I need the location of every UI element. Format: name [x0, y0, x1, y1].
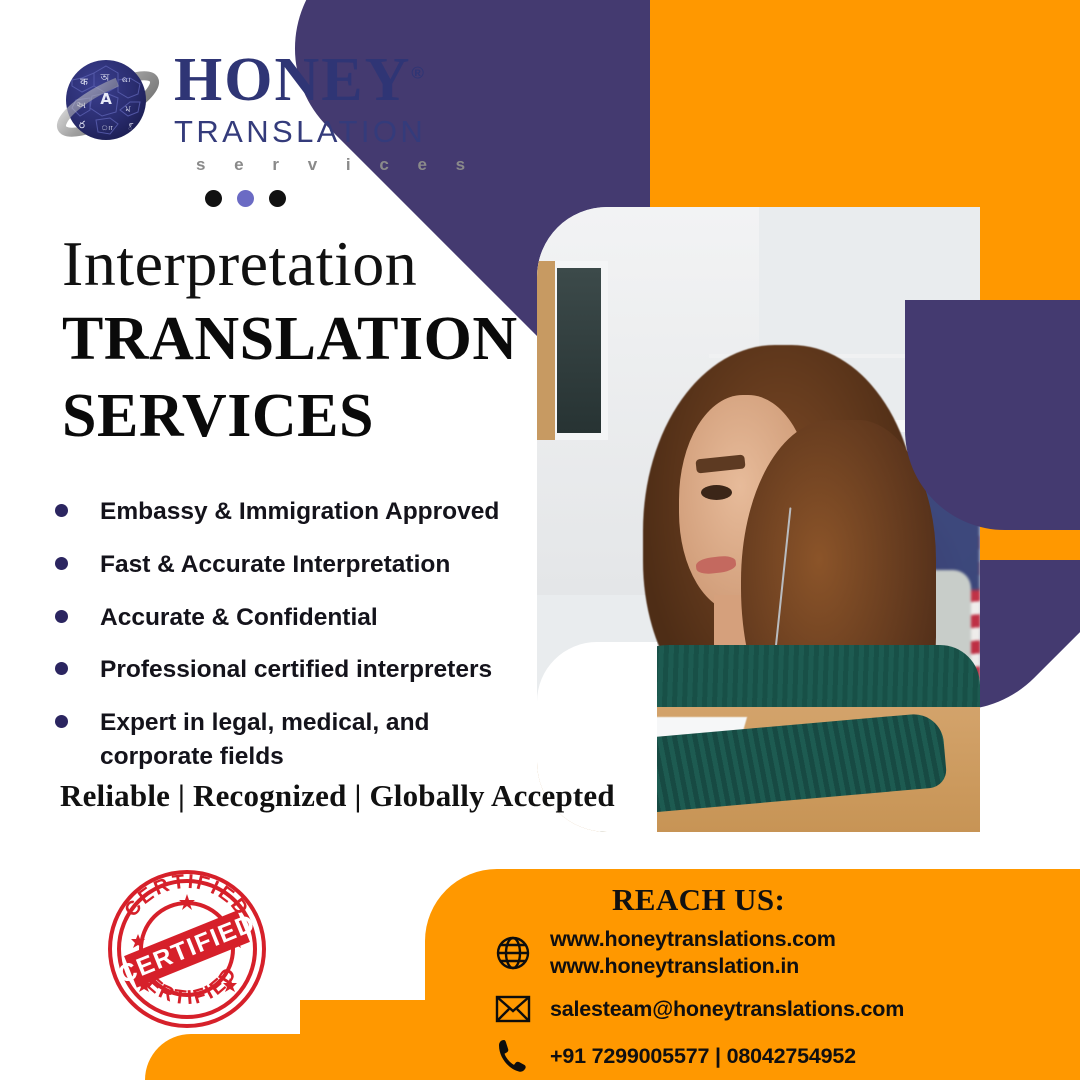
page-title: Interpretation TRANSLATION SERVICES	[62, 232, 518, 450]
contact-row-email[interactable]: salesteam@honeytranslations.com	[492, 994, 1052, 1024]
feature-text: Expert in legal, medical, and corporate …	[100, 706, 450, 774]
dot-black-left	[205, 190, 222, 207]
envelope-icon	[492, 994, 534, 1024]
headline-script-line: Interpretation	[62, 232, 518, 296]
globe-languages-icon: A क অ வ અ ర ா ম ్	[52, 46, 164, 158]
registered-mark-icon: ®	[411, 63, 426, 82]
bullet-dot-icon	[55, 504, 68, 517]
photo-eye	[701, 485, 732, 500]
email-text: salesteam@honeytranslations.com	[550, 996, 904, 1023]
poster-canvas: A क অ வ અ ర ா ম ్ HONEY® TRANSLATION s e…	[0, 0, 1080, 1080]
feature-text: Professional certified interpreters	[100, 653, 492, 687]
contact-row-website[interactable]: www.honeytranslations.com www.honeytrans…	[492, 926, 1052, 980]
list-item: Fast & Accurate Interpretation	[55, 548, 525, 582]
dot-black-right	[269, 190, 286, 207]
headline-bold-line-1: TRANSLATION	[62, 306, 518, 373]
feature-text: Fast & Accurate Interpretation	[100, 548, 450, 582]
list-item: Accurate & Confidential	[55, 601, 525, 635]
svg-text:ম: ম	[125, 105, 132, 115]
svg-text:ర: ర	[79, 120, 85, 131]
certified-stamp-icon: CERTIFIED CERTIFIED CERTIFIED	[104, 866, 270, 1032]
list-item: Embassy & Immigration Approved	[55, 495, 525, 529]
logo-secondary-name: TRANSLATION	[174, 114, 477, 150]
tagline: Reliable | Recognized | Globally Accepte…	[60, 778, 615, 814]
logo-primary-text: HONEY	[174, 46, 411, 114]
logo-dots-group	[205, 190, 286, 207]
purple-lower-accent	[905, 300, 1080, 530]
bullet-dot-icon	[55, 557, 68, 570]
phone-icon	[492, 1038, 534, 1074]
contact-heading: REACH US:	[612, 882, 785, 918]
svg-text:வ: வ	[122, 75, 131, 85]
website-line-1: www.honeytranslations.com	[550, 927, 836, 951]
feature-text: Embassy & Immigration Approved	[100, 495, 499, 529]
website-line-2: www.honeytranslation.in	[550, 954, 799, 978]
feature-list: Embassy & Immigration Approved Fast & Ac…	[55, 495, 525, 793]
bullet-dot-icon	[55, 610, 68, 623]
bullet-dot-icon	[55, 662, 68, 675]
phone-text: +91 7299005577 | 08042754952	[550, 1043, 856, 1070]
headline-bold-line-2: SERVICES	[62, 383, 518, 450]
list-item: Expert in legal, medical, and corporate …	[55, 706, 525, 774]
dot-periwinkle-center	[237, 190, 254, 207]
svg-text:क: क	[80, 77, 88, 88]
website-text: www.honeytranslations.com www.honeytrans…	[550, 926, 836, 980]
brand-logo[interactable]: A क অ வ અ ర ா ম ్ HONEY® TRANSLATION s e…	[52, 46, 477, 175]
contact-row-phone[interactable]: +91 7299005577 | 08042754952	[492, 1038, 1052, 1074]
globe-icon	[492, 935, 534, 971]
logo-wordmark: HONEY® TRANSLATION s e r v i c e s	[174, 46, 477, 175]
feature-text: Accurate & Confidential	[100, 601, 378, 635]
list-item: Professional certified interpreters	[55, 653, 525, 687]
svg-text:ா: ா	[101, 123, 113, 133]
bullet-dot-icon	[55, 715, 68, 728]
logo-tertiary-name: s e r v i c e s	[196, 155, 477, 175]
logo-primary-name: HONEY®	[174, 52, 426, 109]
contact-list: www.honeytranslations.com www.honeytrans…	[492, 926, 1052, 1080]
